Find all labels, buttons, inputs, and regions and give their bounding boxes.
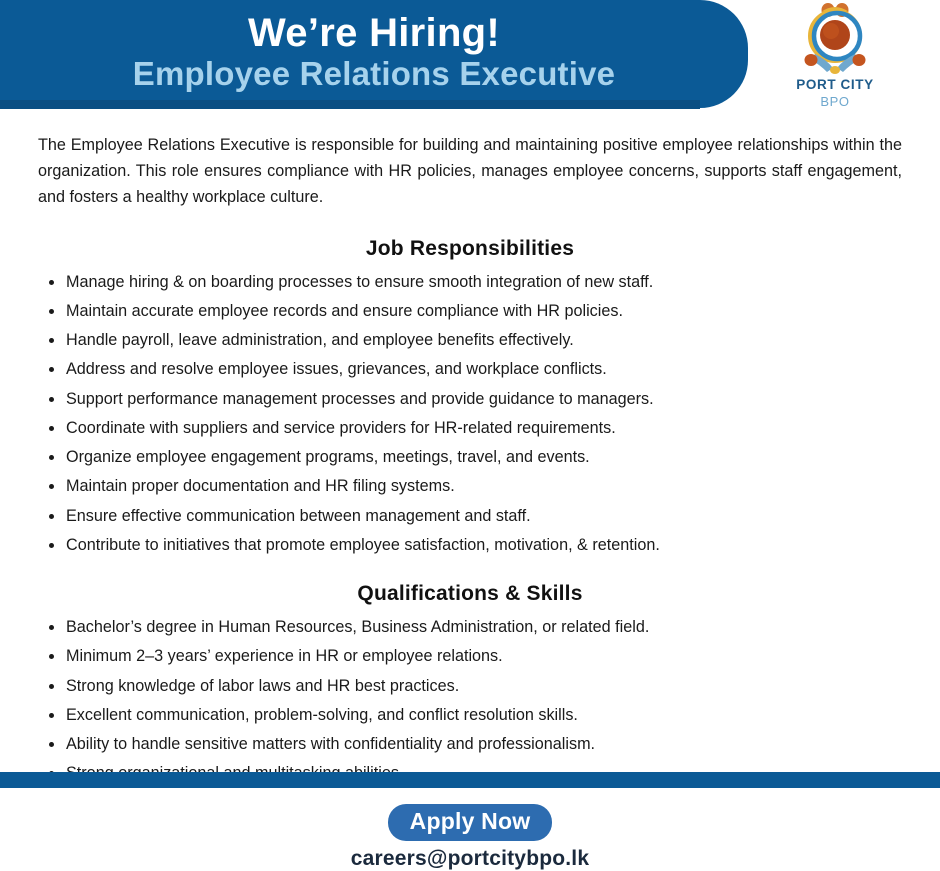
- logo-company-sub: BPO: [775, 94, 895, 109]
- contact-email[interactable]: careers@portcitybpo.lk: [0, 847, 940, 871]
- responsibilities-list: Manage hiring & on boarding processes to…: [0, 269, 940, 558]
- list-item: Ability to handle sensitive matters with…: [0, 731, 940, 757]
- hiring-banner: We’re Hiring! Employee Relations Executi…: [0, 0, 748, 108]
- list-item: Contribute to initiatives that promote e…: [0, 532, 940, 558]
- list-item: Manage hiring & on boarding processes to…: [0, 269, 940, 295]
- list-item: Maintain accurate employee records and e…: [0, 298, 940, 324]
- bottom-accent-bar: [0, 772, 940, 788]
- banner-subtitle: Employee Relations Executive: [133, 56, 615, 93]
- list-item: Maintain proper documentation and HR fil…: [0, 473, 940, 499]
- banner-title: We’re Hiring!: [248, 12, 500, 54]
- list-item: Organize employee engagement programs, m…: [0, 444, 940, 470]
- list-item: Coordinate with suppliers and service pr…: [0, 415, 940, 441]
- intro-paragraph: The Employee Relations Executive is resp…: [38, 132, 902, 211]
- responsibilities-section: Job Responsibilities Manage hiring & on …: [0, 237, 940, 558]
- header-banner-area: We’re Hiring! Employee Relations Executi…: [0, 0, 940, 110]
- list-item: Minimum 2–3 years’ experience in HR or e…: [0, 643, 940, 669]
- list-item: Excellent communication, problem-solving…: [0, 702, 940, 728]
- list-item: Address and resolve employee issues, gri…: [0, 356, 940, 382]
- footer-section: Apply Now careers@portcitybpo.lk: [0, 804, 940, 871]
- responsibilities-heading: Job Responsibilities: [0, 237, 940, 261]
- logo-company-name: PORT CITY: [775, 77, 895, 92]
- banner-underline: [0, 100, 700, 109]
- qualifications-section: Qualifications & Skills Bachelor’s degre…: [0, 582, 940, 786]
- list-item: Support performance management processes…: [0, 386, 940, 412]
- list-item: Handle payroll, leave administration, an…: [0, 327, 940, 353]
- qualifications-list: Bachelor’s degree in Human Resources, Bu…: [0, 614, 940, 786]
- list-item: Bachelor’s degree in Human Resources, Bu…: [0, 614, 940, 640]
- list-item: Ensure effective communication between m…: [0, 503, 940, 529]
- apply-now-button[interactable]: Apply Now: [388, 804, 553, 841]
- list-item: Strong knowledge of labor laws and HR be…: [0, 673, 940, 699]
- company-logo: PORT CITY BPO: [775, 2, 895, 109]
- port-city-crest-icon: [775, 2, 895, 76]
- qualifications-heading: Qualifications & Skills: [0, 582, 940, 606]
